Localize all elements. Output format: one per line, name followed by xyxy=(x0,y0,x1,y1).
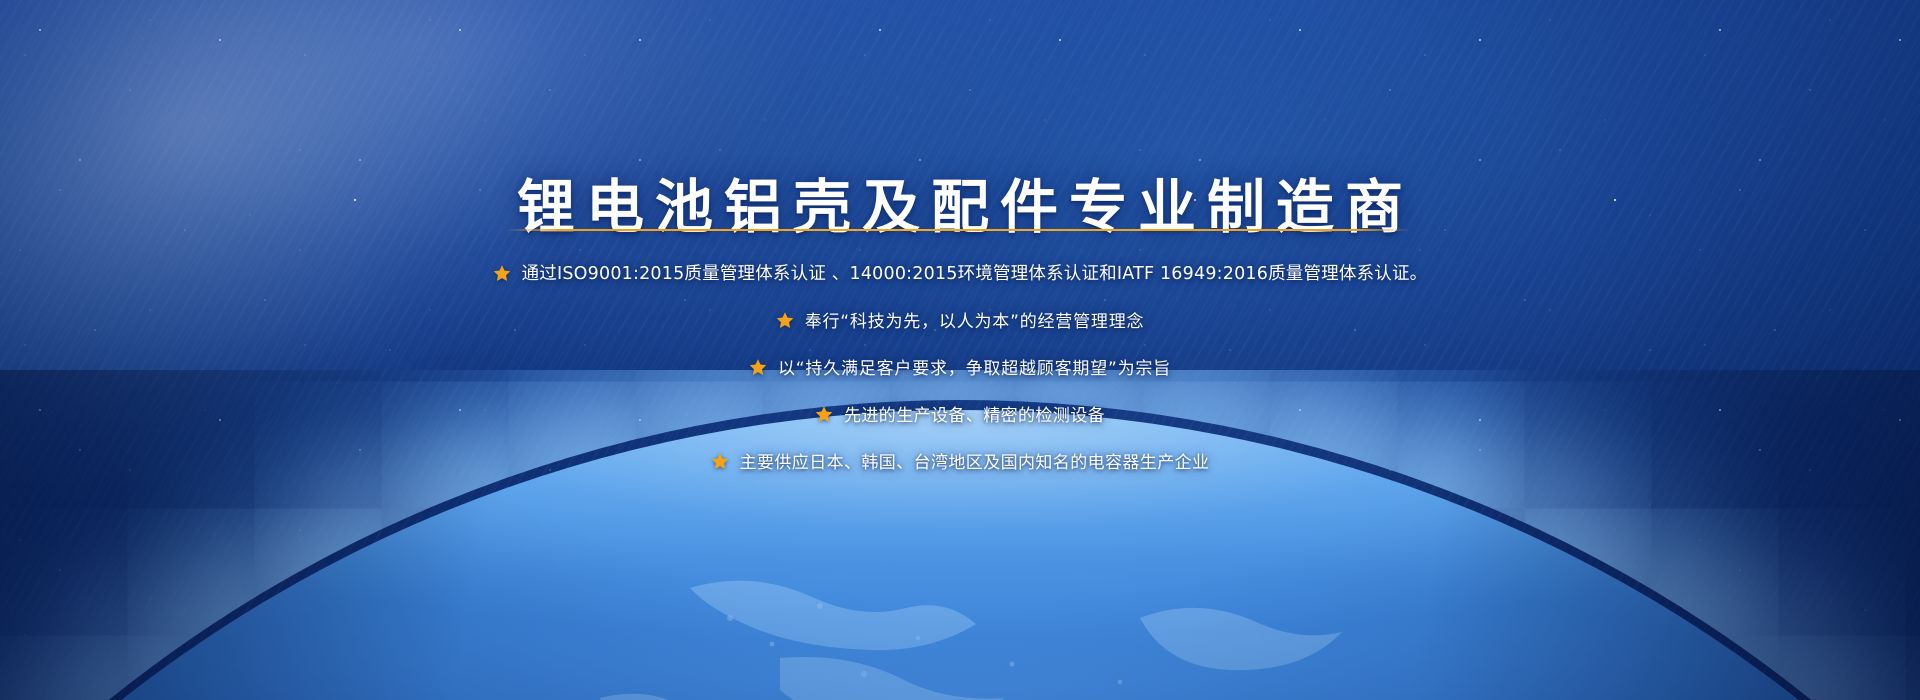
feature-list-item: 以“持久满足客户要求，争取超越顾客期望”为宗旨 xyxy=(0,343,1920,390)
banner-content: 锂电池铝壳及配件专业制造商 通过ISO9001:2015质量管理体系认证 、14… xyxy=(0,0,1920,700)
headline-divider xyxy=(505,229,1410,231)
feature-list-item: 奉行“科技为先，以人为本”的经营管理理念 xyxy=(0,296,1920,343)
feature-list: 通过ISO9001:2015质量管理体系认证 、14000:2015环境管理体系… xyxy=(0,249,1920,484)
star-icon xyxy=(815,405,833,423)
feature-list-item: 主要供应日本、韩国、台湾地区及国内知名的电容器生产企业 xyxy=(0,437,1920,484)
feature-list-item: 先进的生产设备、精密的检测设备 xyxy=(0,390,1920,437)
star-icon xyxy=(776,311,794,329)
feature-list-item-text: 奉行“科技为先，以人为本”的经营管理理念 xyxy=(805,307,1145,332)
feature-list-item-text: 通过ISO9001:2015质量管理体系认证 、14000:2015环境管理体系… xyxy=(522,260,1428,285)
hero-banner: 锂电池铝壳及配件专业制造商 通过ISO9001:2015质量管理体系认证 、14… xyxy=(0,0,1920,700)
star-icon xyxy=(711,452,729,470)
feature-list-item-text: 主要供应日本、韩国、台湾地区及国内知名的电容器生产企业 xyxy=(740,448,1210,473)
star-icon xyxy=(493,264,511,282)
feature-list-item: 通过ISO9001:2015质量管理体系认证 、14000:2015环境管理体系… xyxy=(0,249,1920,296)
feature-list-item-text: 先进的生产设备、精密的检测设备 xyxy=(844,401,1105,426)
banner-headline: 锂电池铝壳及配件专业制造商 xyxy=(0,178,1920,236)
feature-list-item-text: 以“持久满足客户要求，争取超越顾客期望”为宗旨 xyxy=(778,354,1171,379)
star-icon xyxy=(749,358,767,376)
